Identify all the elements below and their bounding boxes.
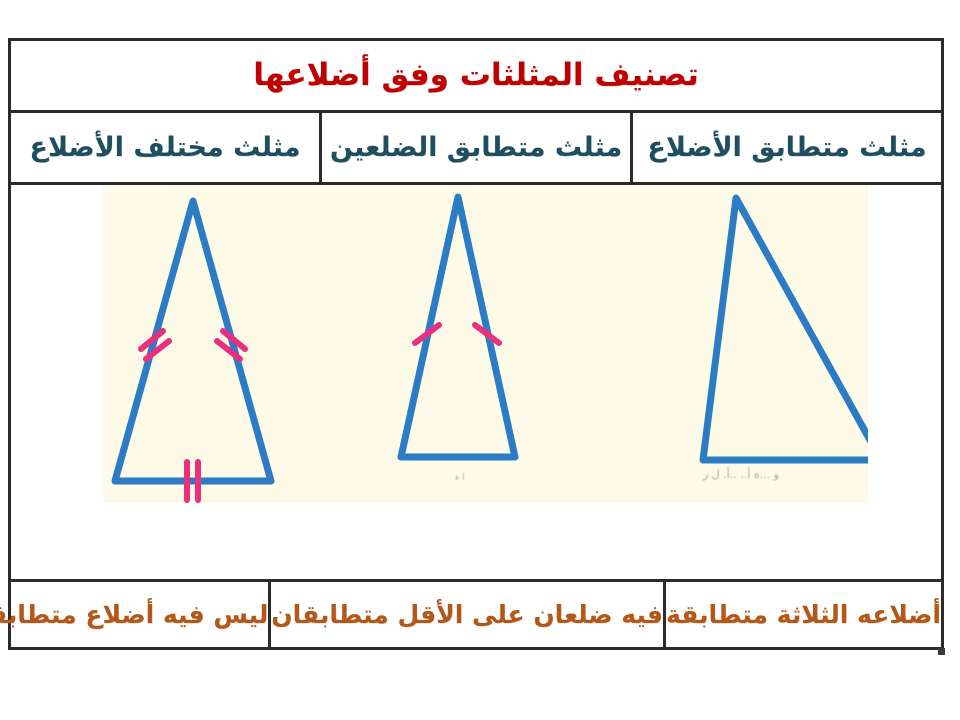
page-title: تصنيف المثلثات وفق أضلاعها: [253, 58, 699, 92]
header-cell-scalene: مثلث مختلف الأضلاع: [11, 113, 319, 182]
scan-artifact-middle: ا ء: [455, 473, 465, 483]
table-caption-row: أضلاعه الثلاثة متطابقة فيه ضلعان على الأ…: [11, 579, 941, 647]
table-figure-row: و ...ه أ.. ..أ. ل ر ا ء: [11, 185, 941, 579]
header-label-scalene: مثلث مختلف الأضلاع: [30, 133, 301, 163]
caption-cell-equilateral: أضلاعه الثلاثة متطابقة: [663, 582, 941, 647]
table-header-row: مثلث متطابق الأضلاع مثلث متطابق الضلعين …: [11, 113, 941, 185]
caption-cell-scalene: ليس فيه أضلاع متطابقة: [0, 582, 268, 647]
triangle-isosceles-outline: [401, 197, 515, 457]
scan-speck: [938, 648, 945, 655]
triangle-scalene-outline: [703, 198, 868, 460]
caption-label-scalene: ليس فيه أضلاع متطابقة: [0, 601, 268, 629]
scan-artifact-right: و ...ه أ.. ..أ. ل ر: [703, 468, 779, 481]
caption-label-isosceles: فيه ضلعان على الأقل متطابقان: [271, 601, 663, 629]
caption-label-equilateral: أضلاعه الثلاثة متطابقة: [666, 601, 941, 629]
caption-cell-isosceles: فيه ضلعان على الأقل متطابقان: [268, 582, 663, 647]
header-label-isosceles: مثلث متطابق الضلعين: [330, 133, 622, 163]
triangle-equilateral-outline: [115, 201, 271, 481]
scanned-diagram-image: و ...ه أ.. ..أ. ل ر ا ء: [103, 185, 868, 503]
triangle-equilateral: [115, 201, 271, 500]
header-label-equilateral: مثلث متطابق الأضلاع: [647, 133, 926, 163]
triangle-scalene: [703, 198, 868, 460]
triangle-isosceles: [401, 197, 515, 457]
header-cell-equilateral: مثلث متطابق الأضلاع: [630, 113, 941, 182]
classification-table: تصنيف المثلثات وفق أضلاعها مثلث متطابق ا…: [8, 38, 944, 650]
header-cell-isosceles: مثلث متطابق الضلعين: [319, 113, 630, 182]
table-title-row: تصنيف المثلثات وفق أضلاعها: [11, 41, 941, 113]
triangles-diagram: [103, 185, 868, 503]
